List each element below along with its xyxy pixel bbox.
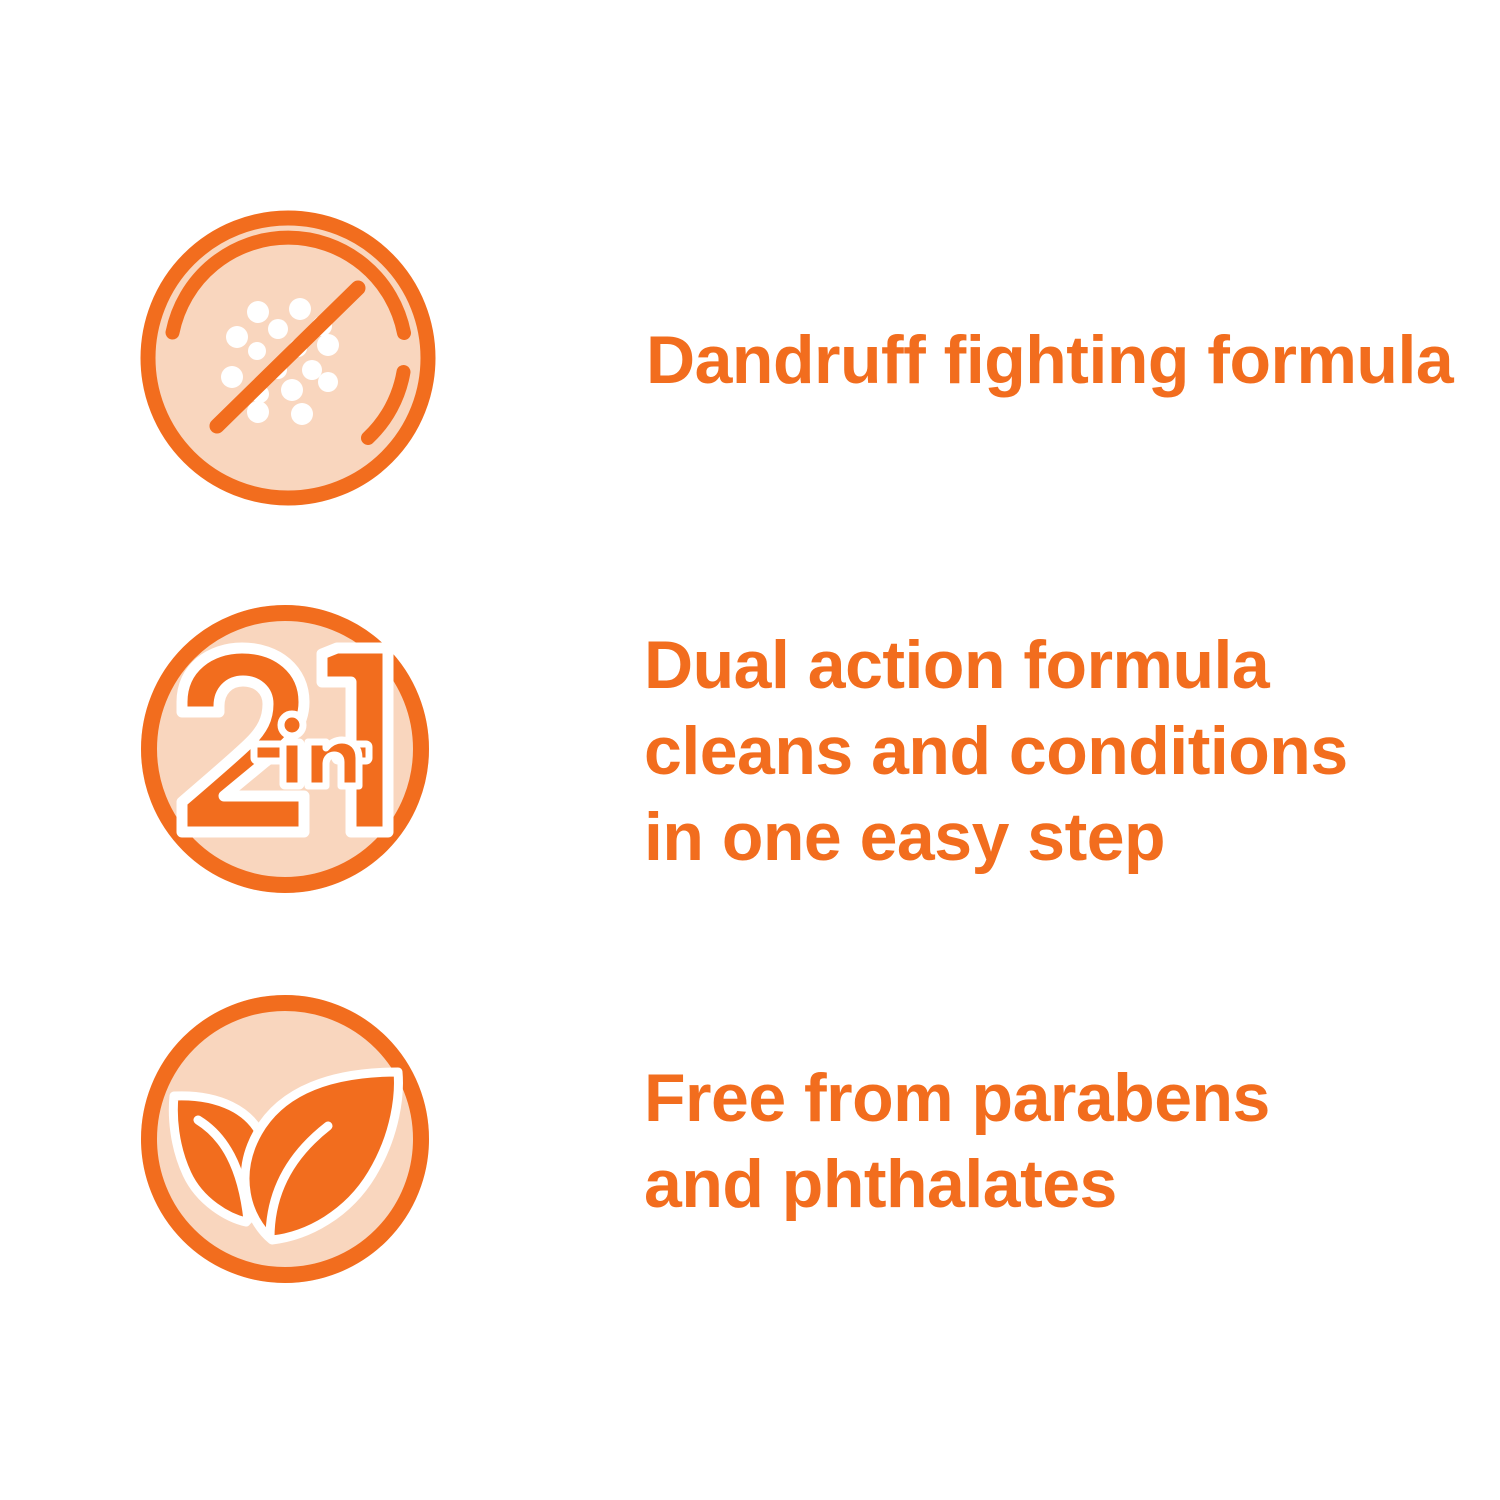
feature-list-canvas: Dandruff fighting formula (0, 0, 1500, 1500)
feature-row-parabens: Free from parabens and phthalates (132, 988, 1432, 1294)
feature-row-dandruff: Dandruff fighting formula (132, 204, 1432, 516)
feature-text-parabens: Free from parabens and phthalates (644, 1055, 1270, 1227)
feature-row-two-in-one: Dual action formula cleans and condition… (132, 598, 1432, 904)
feature-text-dandruff: Dandruff fighting formula (646, 319, 1453, 401)
leaves-icon (132, 986, 438, 1297)
feature-text-two-in-one: Dual action formula cleans and condition… (644, 622, 1348, 880)
two-in-one-icon (132, 596, 438, 907)
no-dandruff-icon (132, 202, 444, 519)
